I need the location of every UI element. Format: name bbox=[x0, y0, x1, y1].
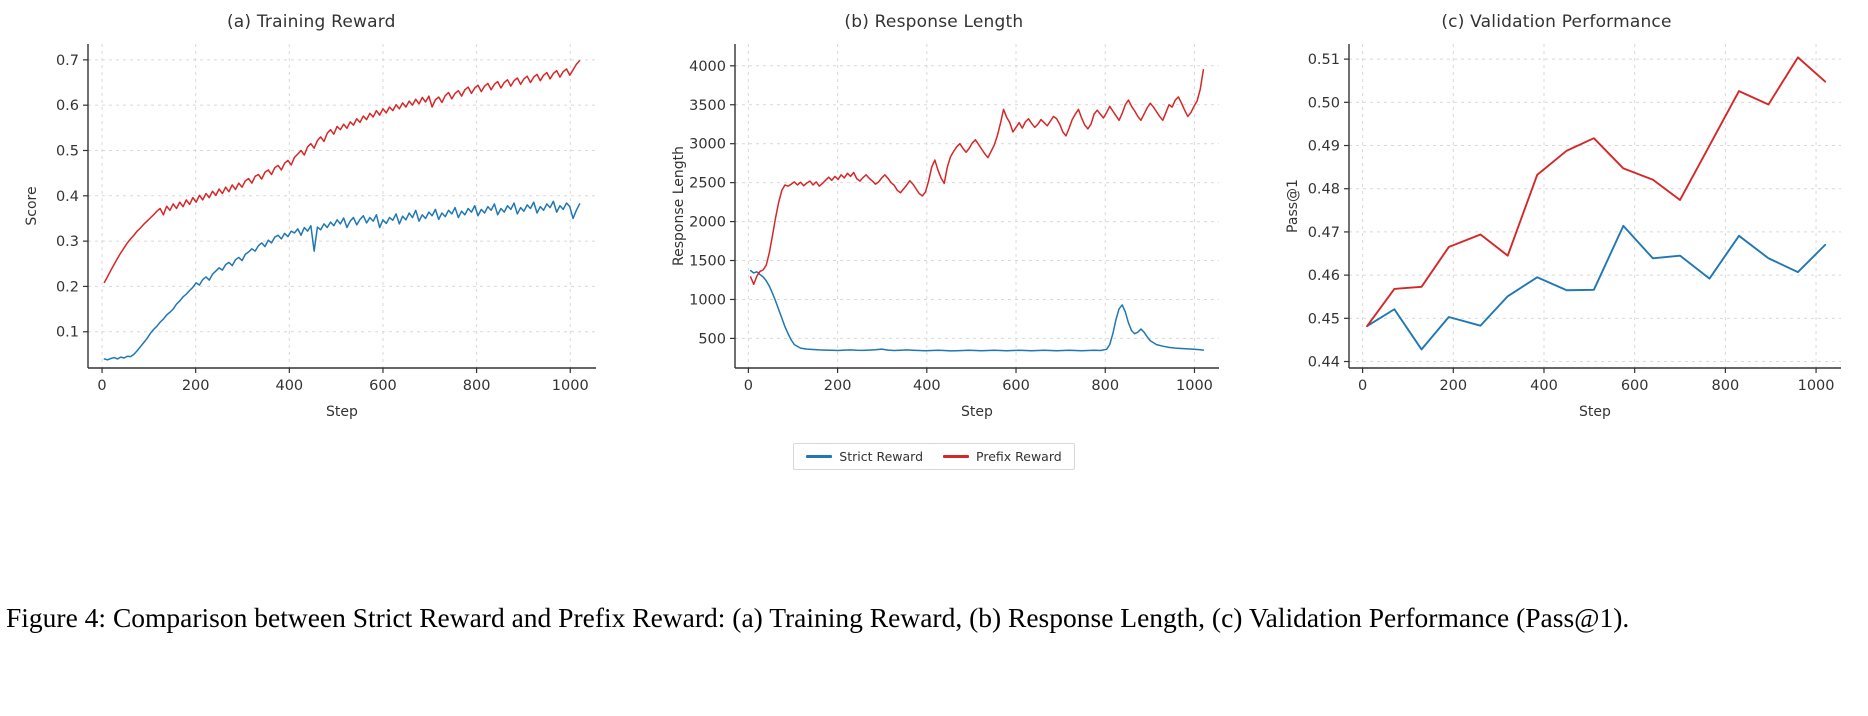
legend-container: Strict Reward Prefix Reward bbox=[0, 443, 1868, 470]
svg-text:2000: 2000 bbox=[689, 215, 726, 231]
svg-text:Step: Step bbox=[961, 404, 993, 420]
panel-b-title: (b) Response Length bbox=[623, 12, 1246, 32]
svg-text:0: 0 bbox=[97, 378, 106, 394]
svg-text:200: 200 bbox=[823, 378, 851, 394]
svg-text:0.3: 0.3 bbox=[56, 234, 79, 250]
svg-text:600: 600 bbox=[1621, 378, 1649, 394]
svg-text:Step: Step bbox=[326, 404, 358, 420]
legend-item-strict-reward: Strict Reward bbox=[806, 449, 923, 464]
svg-text:400: 400 bbox=[913, 378, 941, 394]
svg-text:1000: 1000 bbox=[552, 378, 589, 394]
svg-text:0.1: 0.1 bbox=[56, 325, 79, 341]
svg-text:1000: 1000 bbox=[1176, 378, 1213, 394]
svg-text:4000: 4000 bbox=[689, 59, 726, 75]
svg-text:400: 400 bbox=[1530, 378, 1558, 394]
svg-text:1500: 1500 bbox=[689, 254, 726, 270]
legend-swatch-strict-reward bbox=[806, 455, 832, 458]
panel-a-plot: 0.10.20.30.40.50.60.702004006008001000St… bbox=[0, 0, 623, 440]
legend-label-prefix-reward: Prefix Reward bbox=[976, 449, 1062, 464]
svg-text:2500: 2500 bbox=[689, 176, 726, 192]
legend-box: Strict Reward Prefix Reward bbox=[793, 443, 1074, 470]
svg-text:0.45: 0.45 bbox=[1308, 311, 1340, 327]
svg-text:0.49: 0.49 bbox=[1308, 139, 1340, 155]
svg-text:0.6: 0.6 bbox=[56, 98, 79, 114]
svg-text:800: 800 bbox=[463, 378, 491, 394]
svg-text:Score: Score bbox=[24, 186, 40, 225]
svg-text:500: 500 bbox=[698, 331, 726, 347]
svg-text:0.5: 0.5 bbox=[56, 143, 79, 159]
svg-text:200: 200 bbox=[1440, 378, 1468, 394]
panel-c-plot: 0.440.450.460.470.480.490.500.5102004006… bbox=[1245, 0, 1868, 440]
svg-text:0.44: 0.44 bbox=[1308, 355, 1340, 371]
svg-text:800: 800 bbox=[1091, 378, 1119, 394]
svg-text:800: 800 bbox=[1712, 378, 1740, 394]
panel-row: (a) Training Reward 0.10.20.30.40.50.60.… bbox=[0, 0, 1868, 440]
svg-text:0: 0 bbox=[743, 378, 752, 394]
svg-text:0.46: 0.46 bbox=[1308, 268, 1340, 284]
svg-text:200: 200 bbox=[182, 378, 210, 394]
panel-c-title: (c) Validation Performance bbox=[1245, 12, 1868, 32]
legend-swatch-prefix-reward bbox=[943, 455, 969, 458]
panel-training-reward: (a) Training Reward 0.10.20.30.40.50.60.… bbox=[0, 0, 623, 440]
legend-label-strict-reward: Strict Reward bbox=[839, 449, 923, 464]
svg-text:0.51: 0.51 bbox=[1308, 52, 1340, 68]
figure-caption: Figure 4: Comparison between Strict Rewa… bbox=[6, 600, 1862, 636]
figure-4-container: (a) Training Reward 0.10.20.30.40.50.60.… bbox=[0, 0, 1868, 716]
svg-text:1000: 1000 bbox=[689, 292, 726, 308]
svg-text:0: 0 bbox=[1358, 378, 1367, 394]
panel-b-plot: 5001000150020002500300035004000020040060… bbox=[623, 0, 1246, 440]
svg-text:0.48: 0.48 bbox=[1308, 182, 1340, 198]
svg-text:Step: Step bbox=[1579, 404, 1611, 420]
panel-response-length: (b) Response Length 50010001500200025003… bbox=[623, 0, 1246, 440]
svg-text:0.4: 0.4 bbox=[56, 189, 79, 205]
svg-text:Response Length: Response Length bbox=[671, 146, 687, 266]
legend-item-prefix-reward: Prefix Reward bbox=[943, 449, 1062, 464]
panel-validation-performance: (c) Validation Performance 0.440.450.460… bbox=[1245, 0, 1868, 440]
svg-text:600: 600 bbox=[369, 378, 397, 394]
panel-a-title: (a) Training Reward bbox=[0, 12, 623, 32]
svg-text:0.7: 0.7 bbox=[56, 53, 79, 69]
svg-text:600: 600 bbox=[1002, 378, 1030, 394]
svg-text:1000: 1000 bbox=[1798, 378, 1835, 394]
svg-text:0.50: 0.50 bbox=[1308, 95, 1340, 111]
svg-text:0.47: 0.47 bbox=[1308, 225, 1340, 241]
svg-text:3500: 3500 bbox=[689, 98, 726, 114]
svg-text:Pass@1: Pass@1 bbox=[1285, 179, 1301, 233]
svg-text:0.2: 0.2 bbox=[56, 279, 79, 295]
svg-text:3000: 3000 bbox=[689, 137, 726, 153]
svg-text:400: 400 bbox=[275, 378, 303, 394]
